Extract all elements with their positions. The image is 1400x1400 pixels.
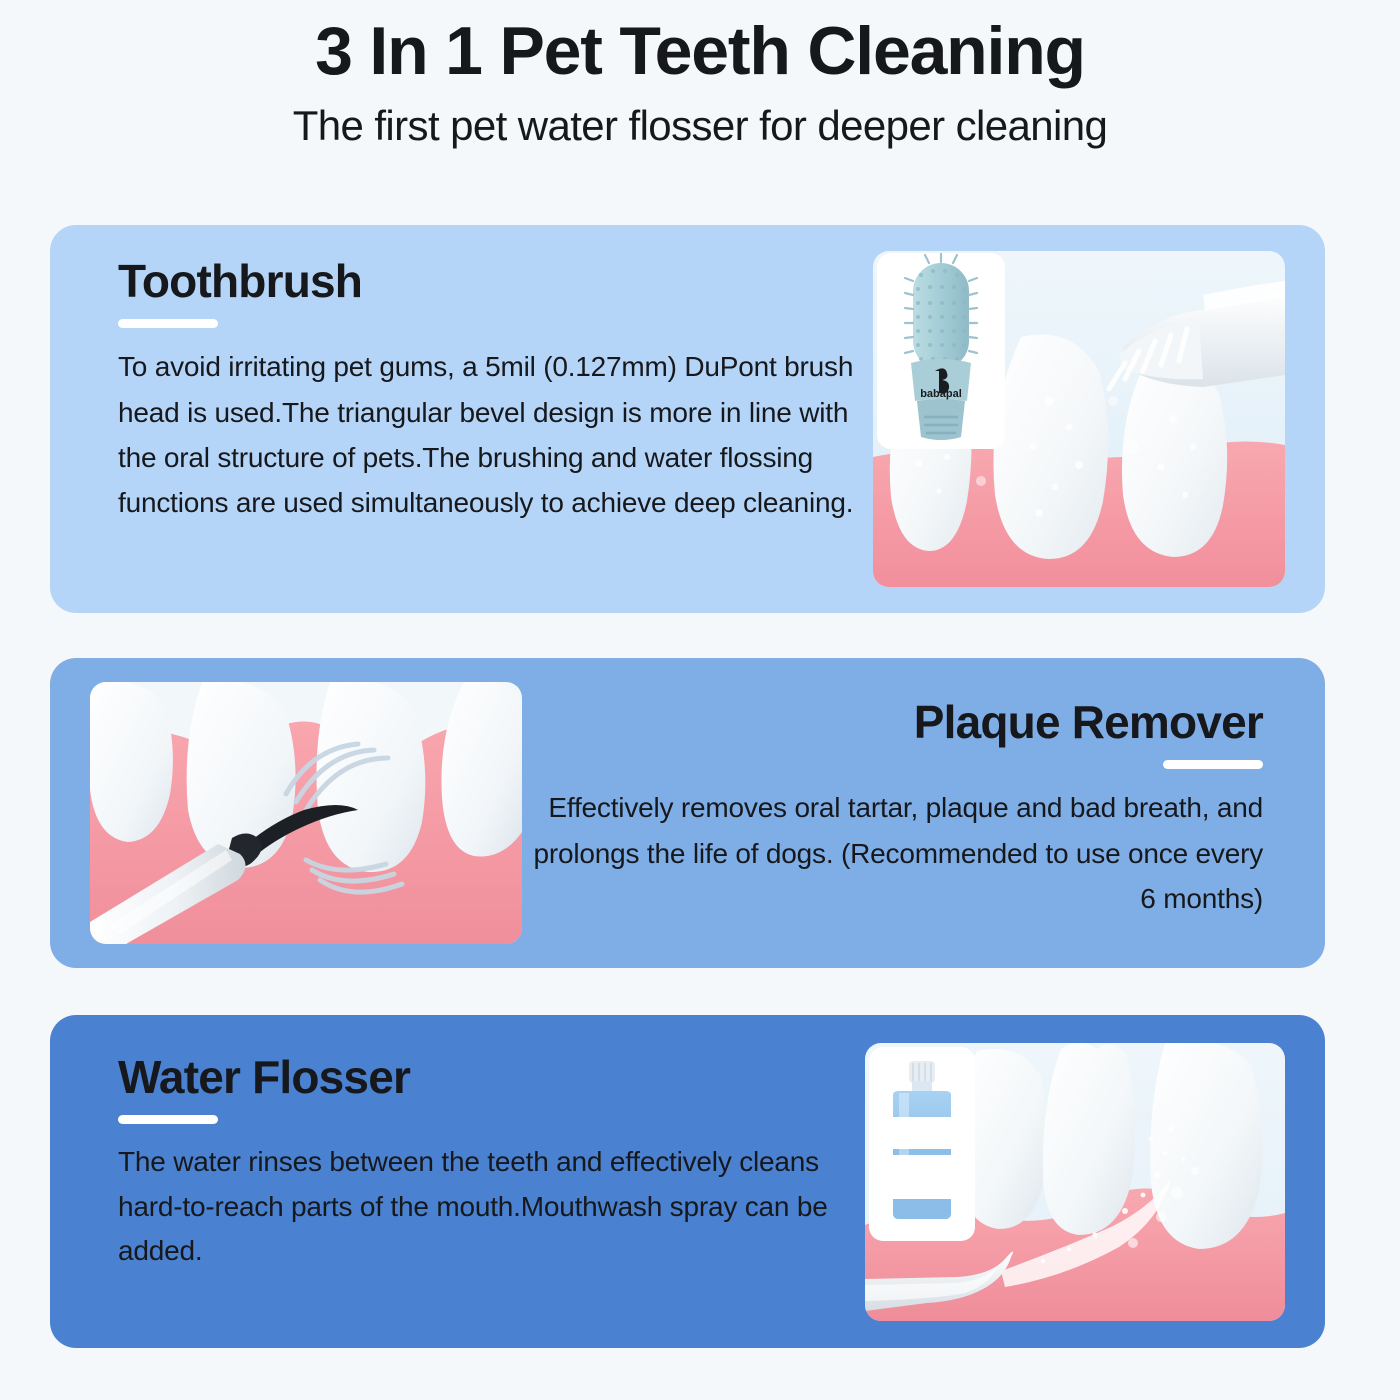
feature-card-plaque-remover: Plaque Remover Effectively removes oral …	[50, 658, 1325, 968]
page-title: 3 In 1 Pet Teeth Cleaning	[0, 14, 1400, 89]
accent-underline	[118, 319, 218, 328]
photo-toothbrush: babapal	[873, 251, 1285, 587]
card-title-toothbrush: Toothbrush	[118, 257, 858, 305]
card-title-water-flosser: Water Flosser	[118, 1053, 848, 1101]
feature-card-water-flosser: Water Flosser The water rinses between t…	[50, 1015, 1325, 1348]
card-text-toothbrush: Toothbrush To avoid irritating pet gums,…	[118, 257, 858, 526]
card-body-water-flosser: The water rinses between the teeth and e…	[118, 1140, 848, 1273]
photo-plaque-remover	[90, 682, 522, 944]
accent-underline	[1163, 760, 1263, 769]
card-text-water-flosser: Water Flosser The water rinses between t…	[118, 1053, 848, 1273]
page-subtitle: The first pet water flosser for deeper c…	[0, 101, 1400, 151]
brand-logo-text: babapal	[920, 388, 962, 400]
feature-card-toothbrush: Toothbrush To avoid irritating pet gums,…	[50, 225, 1325, 613]
card-body-toothbrush: To avoid irritating pet gums, a 5mil (0.…	[118, 344, 858, 525]
card-body-plaque-remover: Effectively removes oral tartar, plaque …	[523, 785, 1263, 921]
header: 3 In 1 Pet Teeth Cleaning The first pet …	[0, 14, 1400, 151]
infographic-page: 3 In 1 Pet Teeth Cleaning The first pet …	[0, 0, 1400, 1400]
card-title-plaque-remover: Plaque Remover	[523, 698, 1263, 746]
card-text-plaque-remover: Plaque Remover Effectively removes oral …	[523, 698, 1263, 921]
photo-water-flosser	[865, 1043, 1285, 1321]
accent-underline	[118, 1115, 218, 1124]
